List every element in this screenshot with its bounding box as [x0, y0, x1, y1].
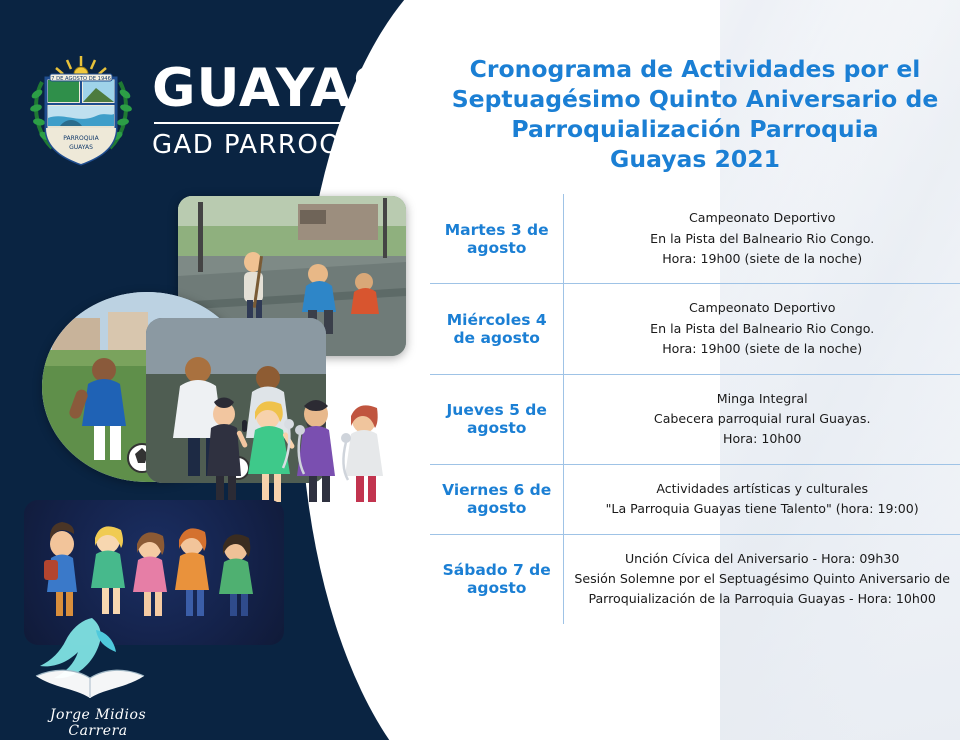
schedule-day: Jueves 5 de agosto	[430, 374, 564, 464]
signature-name: Jorge Midios Carrera	[18, 707, 178, 739]
schedule-detail-line: "La Parroquia Guayas tiene Talento" (hor…	[574, 499, 950, 519]
schedule-detail-line: Cabecera parroquial rural Guayas.	[574, 409, 950, 429]
schedule-detail-line: Unción Cívica del Aniversario - Hora: 09…	[574, 549, 950, 569]
dove-book-logo-icon	[18, 610, 178, 706]
signature-logo: Jorge Midios Carrera	[18, 610, 178, 730]
coat-of-arms-icon: PARROQUIA GUAYAS 7 DE AGOSTO DE 1946	[26, 52, 136, 170]
content-column: Cronograma de Actividades por el Septuag…	[430, 0, 960, 740]
schedule-day: Martes 3 de agosto	[430, 194, 564, 284]
schedule-detail: Minga IntegralCabecera parroquial rural …	[564, 374, 960, 464]
schedule-table: Martes 3 de agostoCampeonato DeportivoEn…	[430, 194, 960, 623]
poster-canvas: PARROQUIA GUAYAS 7 DE AGOSTO DE 1946 GUA…	[0, 0, 960, 740]
svg-text:GUAYAS: GUAYAS	[69, 144, 93, 151]
schedule-detail-line: Minga Integral	[574, 389, 950, 409]
schedule-detail-line: Hora: 19h00 (siete de la noche)	[574, 249, 950, 269]
brand-block: PARROQUIA GUAYAS 7 DE AGOSTO DE 1946 GUA…	[26, 52, 406, 170]
schedule-row: Miércoles 4 de agostoCampeonato Deportiv…	[430, 284, 960, 374]
schedule-row: Sábado 7 de agostoUnción Cívica del Aniv…	[430, 534, 960, 624]
title-line-2: Septuagésimo Quinto Aniversario de	[444, 84, 946, 114]
svg-text:PARROQUIA: PARROQUIA	[63, 135, 99, 142]
schedule-row: Viernes 6 de agostoActividades artística…	[430, 464, 960, 534]
brand-subtitle: GAD PARROQUIAL	[152, 130, 406, 160]
title-line-4: Guayas 2021	[444, 144, 946, 174]
schedule-day: Sábado 7 de agosto	[430, 534, 564, 624]
schedule-detail-line: Campeonato Deportivo	[574, 298, 950, 318]
svg-text:7 DE AGOSTO DE 1946: 7 DE AGOSTO DE 1946	[51, 76, 111, 82]
schedule-day: Miércoles 4 de agosto	[430, 284, 564, 374]
page-title: Cronograma de Actividades por el Septuag…	[430, 0, 960, 174]
brand-divider	[154, 122, 354, 124]
singers-illustration	[196, 390, 401, 505]
schedule-detail: Unción Cívica del Aniversario - Hora: 09…	[564, 534, 960, 624]
schedule-detail-line: Hora: 19h00 (siete de la noche)	[574, 339, 950, 359]
schedule-row: Martes 3 de agostoCampeonato DeportivoEn…	[430, 194, 960, 284]
schedule-detail: Campeonato DeportivoEn la Pista del Baln…	[564, 194, 960, 284]
schedule-detail-line: Parroquialización de la Parroquia Guayas…	[574, 589, 950, 609]
title-line-3: Parroquialización Parroquia	[444, 114, 946, 144]
brand-text: GUAYAS GAD PARROQUIAL	[152, 62, 406, 160]
schedule-detail-line: En la Pista del Balneario Rio Congo.	[574, 229, 950, 249]
schedule-detail: Campeonato DeportivoEn la Pista del Baln…	[564, 284, 960, 374]
title-line-1: Cronograma de Actividades por el	[444, 54, 946, 84]
schedule-row: Jueves 5 de agostoMinga IntegralCabecera…	[430, 374, 960, 464]
schedule-day: Viernes 6 de agosto	[430, 464, 564, 534]
brand-title: GUAYAS	[152, 62, 406, 115]
schedule-detail-line: En la Pista del Balneario Rio Congo.	[574, 319, 950, 339]
schedule-detail-line: Hora: 10h00	[574, 429, 950, 449]
schedule-detail-line: Campeonato Deportivo	[574, 208, 950, 228]
schedule-detail-line: Actividades artísticas y culturales	[574, 479, 950, 499]
schedule-detail: Actividades artísticas y culturales"La P…	[564, 464, 960, 534]
schedule-detail-line: Sesión Solemne por el Septuagésimo Quint…	[574, 569, 950, 589]
